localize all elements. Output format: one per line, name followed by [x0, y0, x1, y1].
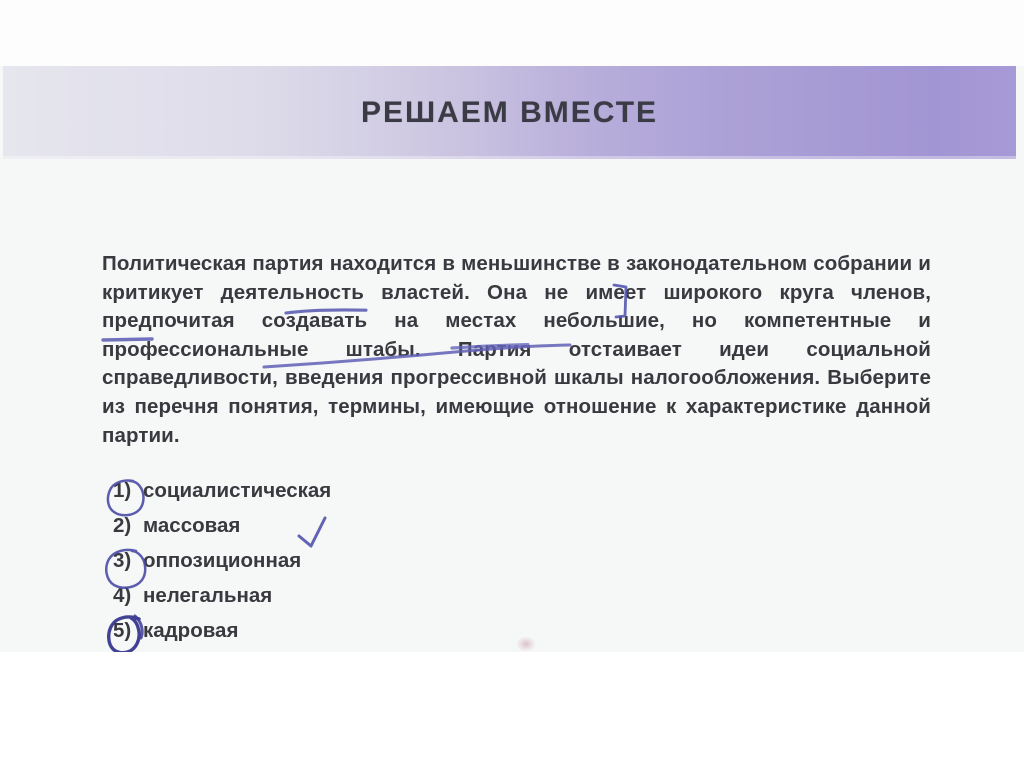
option-label: социалистическая: [143, 478, 331, 504]
option-label: кадровая: [143, 618, 238, 644]
option-number: 4): [113, 583, 143, 609]
list-item[interactable]: 4)нелегальная: [113, 583, 613, 618]
task-paragraph: Политическая партия находится в меньшинс…: [102, 250, 931, 450]
list-item[interactable]: 1)социалистическая: [113, 478, 613, 513]
list-item[interactable]: 3)оппозиционная: [113, 548, 613, 583]
option-number: 2): [113, 513, 143, 539]
list-item[interactable]: 5)кадровая: [113, 618, 613, 653]
slide-canvas: РЕШАЕМ ВМЕСТЕ Политическая партия находи…: [0, 0, 1024, 767]
slide-top-margin: [0, 0, 1024, 66]
option-number: 5): [113, 618, 143, 644]
option-label: нелегальная: [143, 583, 272, 609]
list-item[interactable]: 2)массовая: [113, 513, 613, 548]
option-label: оппозиционная: [143, 548, 301, 574]
page-smudge-artifact: [517, 637, 535, 651]
option-label: массовая: [143, 513, 240, 539]
page-title: РЕШАЕМ ВМЕСТЕ: [3, 96, 1016, 130]
option-number: 3): [113, 548, 143, 574]
slide-header-band: РЕШАЕМ ВМЕСТЕ: [3, 66, 1016, 159]
options-list: 1)социалистическая 2)массовая 3)оппозици…: [113, 478, 613, 653]
slide-bottom-margin: [0, 652, 1024, 767]
option-number: 1): [113, 478, 143, 504]
